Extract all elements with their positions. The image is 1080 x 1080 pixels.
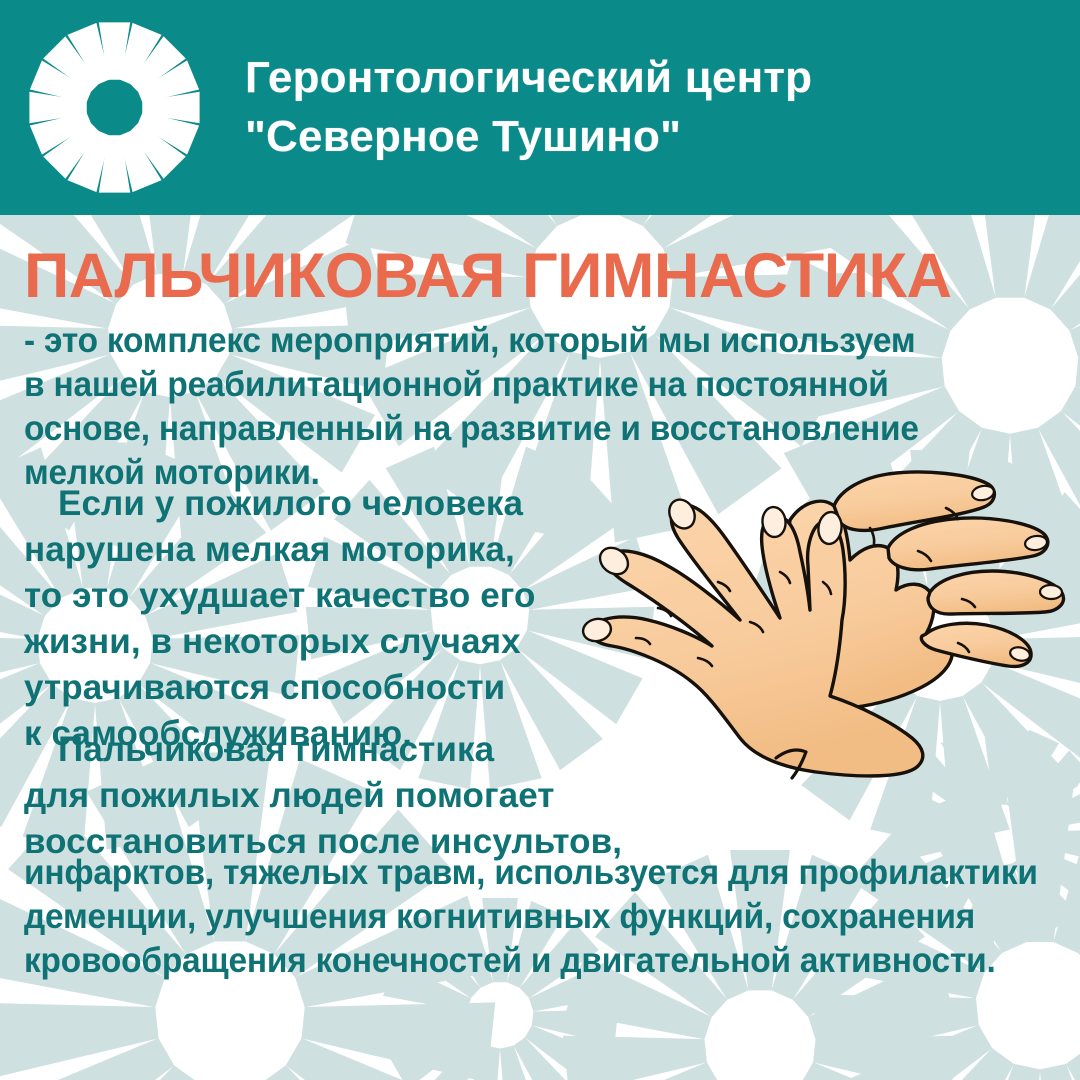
text-line: в нашей реабилитационной практике на пос… bbox=[24, 363, 1008, 407]
paragraph-benefits-detail: инфарктов, тяжелых травм, используется д… bbox=[24, 851, 1017, 983]
paragraph-consequences: Если у пожилого человека нарушена мелкая… bbox=[24, 481, 584, 757]
text-line: инфарктов, тяжелых травм, используется д… bbox=[24, 851, 1017, 895]
paragraph-benefits-intro: Пальчиковая гимнастика для пожилых людей… bbox=[24, 727, 584, 865]
poster: Геронтологический центр "Северное Тушино… bbox=[0, 0, 1080, 1080]
text-line: основе, направленный на развитие и восст… bbox=[24, 407, 1008, 451]
sunburst-icon bbox=[22, 15, 207, 200]
text-line: кровообращения конечностей и двигательно… bbox=[24, 939, 1017, 983]
text-line: для пожилых людей помогает bbox=[24, 773, 584, 819]
text-line: Пальчиковая гимнастика bbox=[24, 727, 584, 773]
main-content: ПАЛЬЧИКОВАЯ ГИМНАСТИКА - это комплекс ме… bbox=[0, 215, 1080, 1080]
text-line: то это ухудшает качество его bbox=[24, 573, 584, 619]
page-title: ПАЛЬЧИКОВАЯ ГИМНАСТИКА bbox=[24, 245, 951, 308]
text-line: утрачиваются способности bbox=[24, 665, 584, 711]
page-header: Геронтологический центр "Северное Тушино… bbox=[0, 0, 1080, 215]
text-line: жизни, в некоторых случаях bbox=[24, 619, 584, 665]
organization-title: Геронтологический центр "Северное Тушино… bbox=[245, 49, 812, 165]
hands-illustration bbox=[540, 460, 1070, 810]
organization-logo bbox=[22, 15, 207, 200]
text-line: деменции, улучшения когнитивных функций,… bbox=[24, 895, 1017, 939]
text-line: Если у пожилого человека bbox=[24, 481, 584, 527]
text-line: - это комплекс мероприятий, который мы и… bbox=[24, 319, 1008, 363]
text-line: нарушена мелкая моторика, bbox=[24, 527, 584, 573]
